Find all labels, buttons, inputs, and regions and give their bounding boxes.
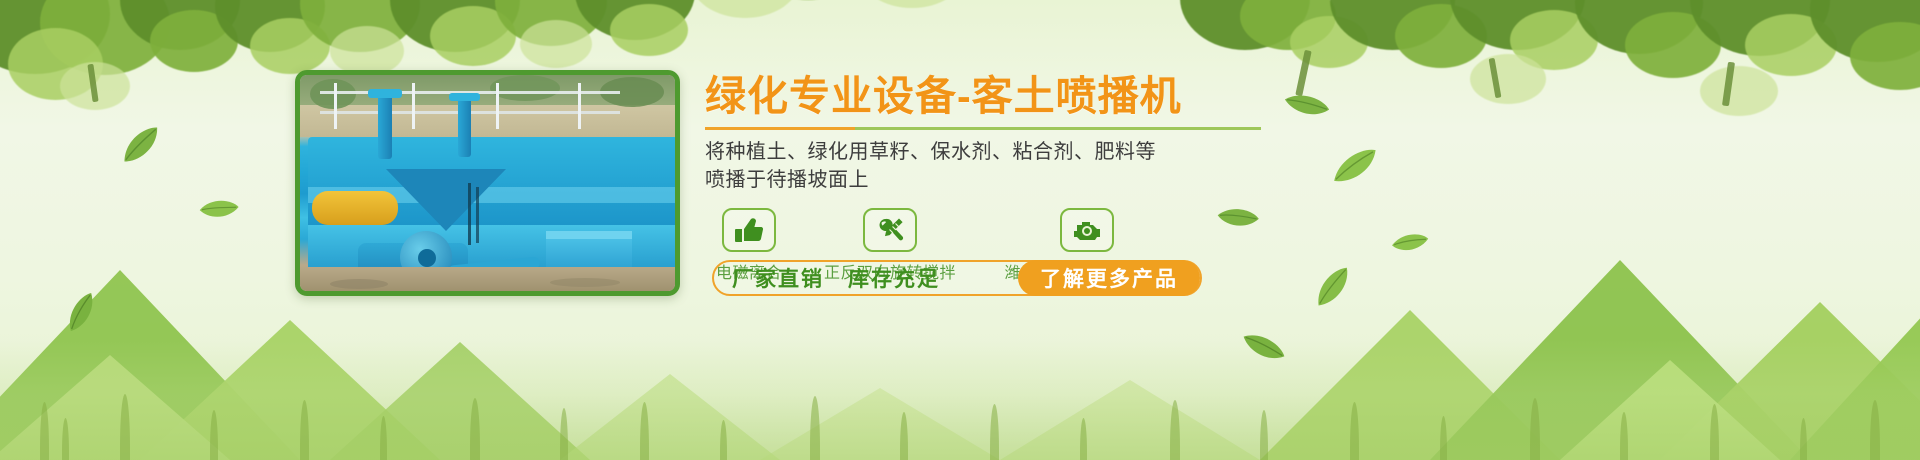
page-title: 绿化专业设备-客土喷播机 [705, 72, 1265, 121]
cta-slogans: 厂家直销 库存充足 [714, 263, 940, 293]
tools-wrench-screwdriver-icon [875, 216, 905, 244]
banner-content: 绿化专业设备-客土喷播机 将种植土、绿化用草籽、保水剂、粘合剂、肥料等 喷播于待… [705, 72, 1265, 283]
grass-foreground [0, 340, 1920, 460]
cta-bar: 厂家直销 库存充足 了解更多产品 [712, 260, 1202, 296]
title-divider [705, 127, 1261, 130]
feature-icon-box [1060, 208, 1114, 252]
subtitle-line-1: 将种植土、绿化用草籽、保水剂、粘合剂、肥料等 [705, 139, 1265, 166]
engine-icon [1071, 217, 1103, 243]
feature-icon-box [722, 208, 776, 252]
learn-more-button[interactable]: 了解更多产品 [1018, 260, 1200, 296]
product-photo-image [300, 75, 675, 291]
subtitle-line-2: 喷播于待播坡面上 [705, 167, 1265, 194]
thumbs-up-icon [734, 216, 764, 244]
cta-slogan-1: 厂家直销 [732, 263, 824, 293]
promo-banner: 绿化专业设备-客土喷播机 将种植土、绿化用草籽、保水剂、粘合剂、肥料等 喷播于待… [0, 0, 1920, 460]
product-photo [295, 70, 680, 296]
feature-icon-box [863, 208, 917, 252]
cta-slogan-2: 库存充足 [848, 263, 940, 293]
